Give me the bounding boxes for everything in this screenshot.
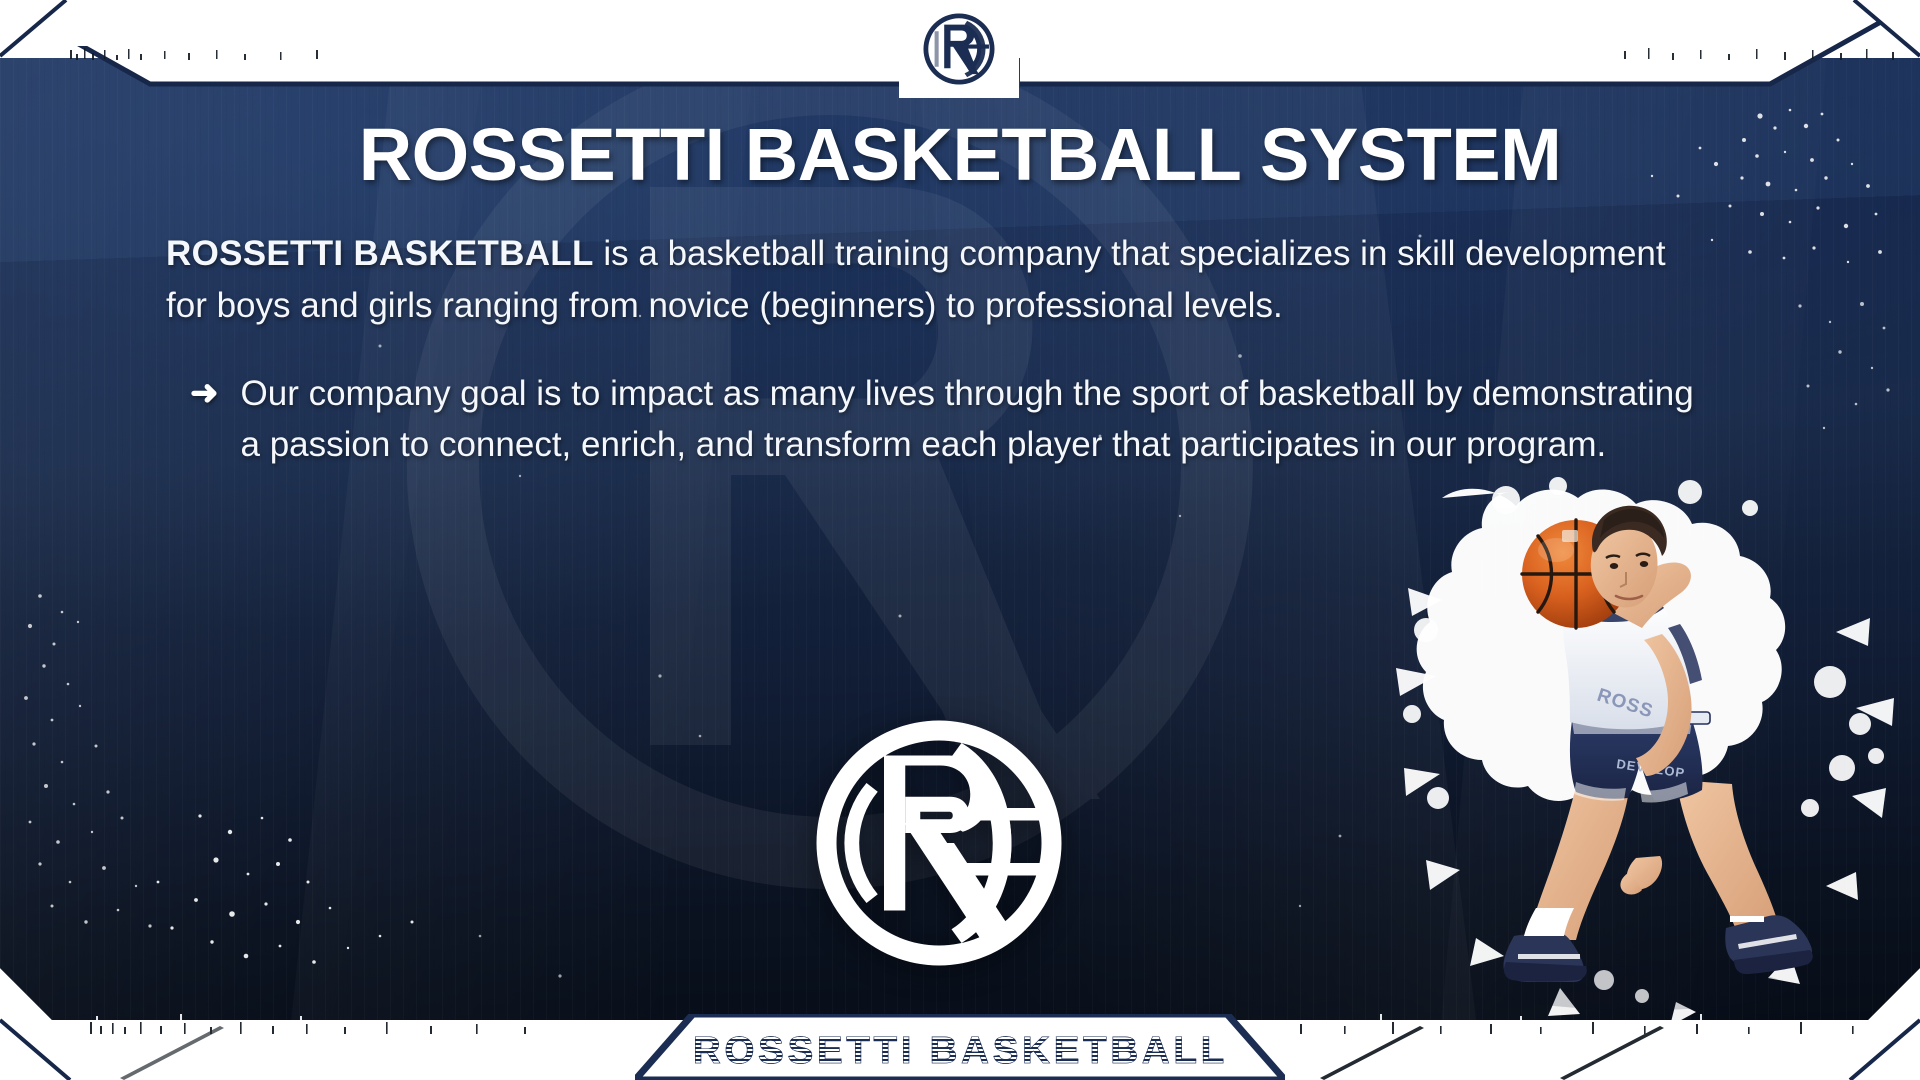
arrow-right-icon: ➜ [190,368,219,472]
footer-banner: ROSSETTI BASKETBALL ROSSETTI BASKETBALL [635,1014,1285,1080]
center-watermark-logo-icon [814,718,1064,968]
rossetti-logo-icon [922,12,996,86]
intro-paragraph: ROSSETTI BASKETBALL is a basketball trai… [166,228,1686,332]
list-item: ➜ Our company goal is to impact as many … [166,368,1706,472]
slide-root: ROSSETTI BASKETBALL SYSTEM ROSSETTI BASK… [0,0,1920,1080]
header-logo-tab [899,0,1019,98]
page-title: ROSSETTI BASKETBALL SYSTEM [0,118,1920,192]
slide-content: ROSSETTI BASKETBALL SYSTEM ROSSETTI BASK… [0,0,1920,1080]
brand-name-bold: ROSSETTI BASKETBALL [166,234,594,273]
footer-title: ROSSETTI BASKETBALL [692,1030,1227,1073]
player-photo: DEVELOP ROSS [1390,468,1910,1028]
body-text-block: ROSSETTI BASKETBALL is a basketball trai… [166,228,1706,471]
bullet-text: Our company goal is to impact as many li… [241,368,1707,472]
